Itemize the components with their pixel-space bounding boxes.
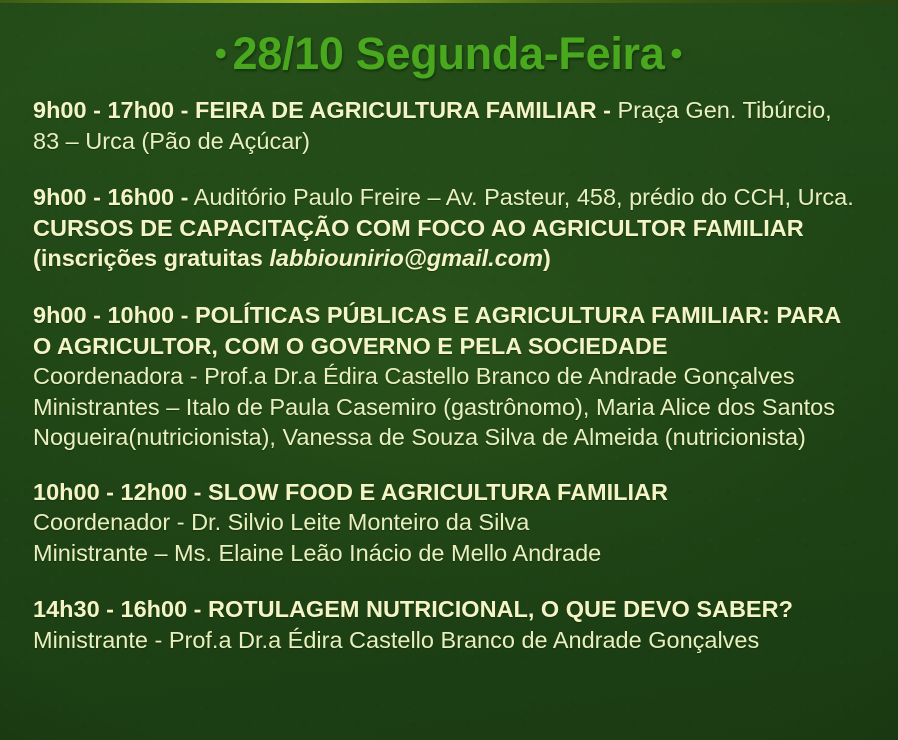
top-accent-bar [0,0,898,3]
schedule-entry-rotulagem: 14h30 - 16h00 - ROTULAGEM NUTRICIONAL, O… [33,594,864,655]
entry-email-link[interactable]: labbiounirio@gmail.com [269,245,543,271]
schedule-entry-politicas-publicas: 9h00 - 10h00 - POLÍTICAS PÚBLICAS E AGRI… [33,300,864,453]
entry-heading: 9h00 - 16h00 - [33,184,188,210]
schedule-entry-feira: 9h00 - 17h00 - FEIRA DE AGRICULTURA FAMI… [33,95,864,156]
entry-coordinator-line: Coordenador - Dr. Silvio Leite Monteiro … [33,507,864,538]
entry-speakers-line: Ministrantes – Italo de Paula Casemiro (… [33,392,864,453]
entry-heading: 14h30 - 16h00 - ROTULAGEM NUTRICIONAL, O… [33,596,793,622]
schedule-entry-slow-food: 10h00 - 12h00 - SLOW FOOD E AGRICULTURA … [33,477,864,569]
bullet-right-icon: • [664,35,688,73]
entry-speakers-line: Ministrante - Prof.a Dr.a Édira Castello… [33,625,864,656]
poster-content: •28/10 Segunda-Feira• 9h00 - 17h00 - FEI… [0,0,898,655]
entry-heading: 10h00 - 12h00 - SLOW FOOD E AGRICULTURA … [33,479,668,505]
entry-detail: Auditório Paulo Freire – Av. Pasteur, 45… [188,184,853,210]
entry-speakers-line: Ministrante – Ms. Elaine Leão Inácio de … [33,538,864,569]
entry-heading-close-paren: ) [543,245,551,271]
event-schedule-poster: •28/10 Segunda-Feira• 9h00 - 17h00 - FEI… [0,0,898,740]
page-title: •28/10 Segunda-Feira• [33,0,864,91]
entry-coordinator-line: Coordenadora - Prof.a Dr.a Édira Castell… [33,361,864,392]
entry-heading: 9h00 - 17h00 - FEIRA DE AGRICULTURA FAMI… [33,97,611,123]
entry-heading: 9h00 - 10h00 - POLÍTICAS PÚBLICAS E AGRI… [33,302,840,359]
bullet-left-icon: • [209,35,233,73]
page-title-text: 28/10 Segunda-Feira [233,28,665,79]
schedule-entry-cursos: 9h00 - 16h00 - Auditório Paulo Freire – … [33,182,864,274]
